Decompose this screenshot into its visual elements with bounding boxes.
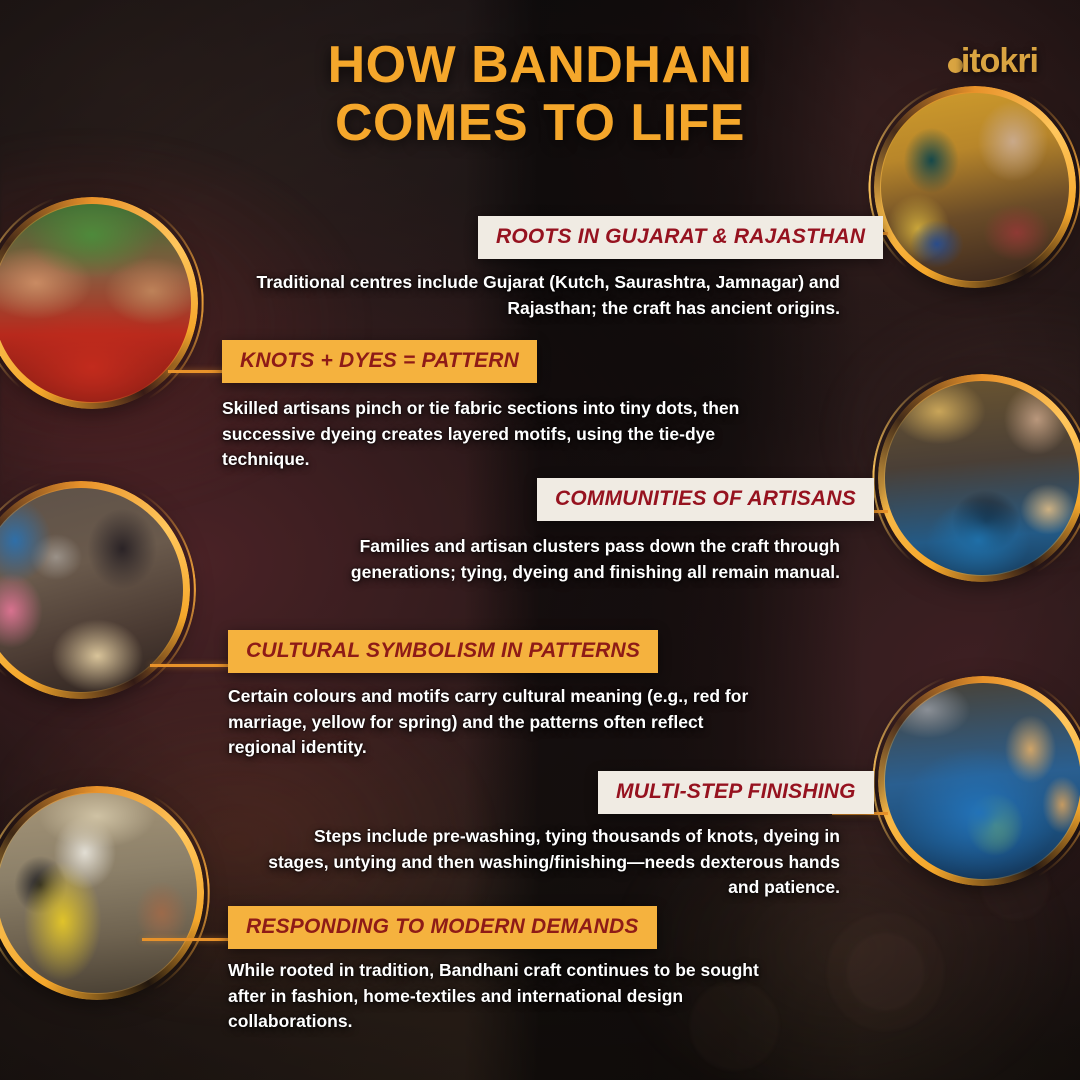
section-label-communities[interactable]: COMMUNITIES OF ARTISANS	[537, 478, 874, 521]
photo-indigo-vat-image	[884, 682, 1080, 880]
section-body-knots-dyes: Skilled artisans pinch or tie fabric sec…	[222, 396, 752, 473]
connector-modern-demands	[142, 938, 230, 941]
connector-knots-dyes	[168, 370, 230, 373]
section-label-symbolism[interactable]: CULTURAL SYMBOLISM IN PATTERNS	[228, 630, 658, 673]
section-label-finishing[interactable]: MULTI-STEP FINISHING	[598, 771, 874, 814]
photo-yellow-lift-image	[0, 792, 198, 994]
photo-dye-tub	[884, 380, 1080, 576]
section-label-modern-demands[interactable]: RESPONDING TO MODERN DEMANDS	[228, 906, 657, 949]
photo-red-hands	[0, 203, 192, 403]
photo-knotting-image	[0, 487, 184, 693]
page-title: HOW BANDHANI COMES TO LIFE	[0, 36, 1080, 152]
photo-knotting	[0, 487, 184, 693]
photo-red-hands-image	[0, 203, 192, 403]
section-body-finishing: Steps include pre-washing, tying thousan…	[250, 824, 840, 901]
page-title-line-1: HOW BANDHANI	[328, 36, 753, 94]
page-title-line-2: COMES TO LIFE	[0, 94, 1080, 152]
connector-symbolism	[150, 664, 230, 667]
infographic-canvas: HOW BANDHANI COMES TO LIFE itokri ROOTS	[0, 0, 1080, 1080]
photo-dye-tub-image	[884, 380, 1080, 576]
section-label-roots[interactable]: ROOTS IN GUJARAT & RAJASTHAN	[478, 216, 883, 259]
photo-yellow-lift	[0, 792, 198, 994]
brand-logo-text: itokri	[961, 42, 1038, 80]
section-body-roots: Traditional centres include Gujarat (Kut…	[250, 270, 840, 321]
photo-indigo-vat	[884, 682, 1080, 880]
section-body-communities: Families and artisan clusters pass down …	[250, 534, 840, 585]
brand-logo[interactable]: itokri	[958, 42, 1038, 81]
section-label-knots-dyes[interactable]: KNOTS + DYES = PATTERN	[222, 340, 537, 383]
section-body-symbolism: Certain colours and motifs carry cultura…	[228, 684, 768, 761]
section-body-modern-demands: While rooted in tradition, Bandhani craf…	[228, 958, 776, 1035]
